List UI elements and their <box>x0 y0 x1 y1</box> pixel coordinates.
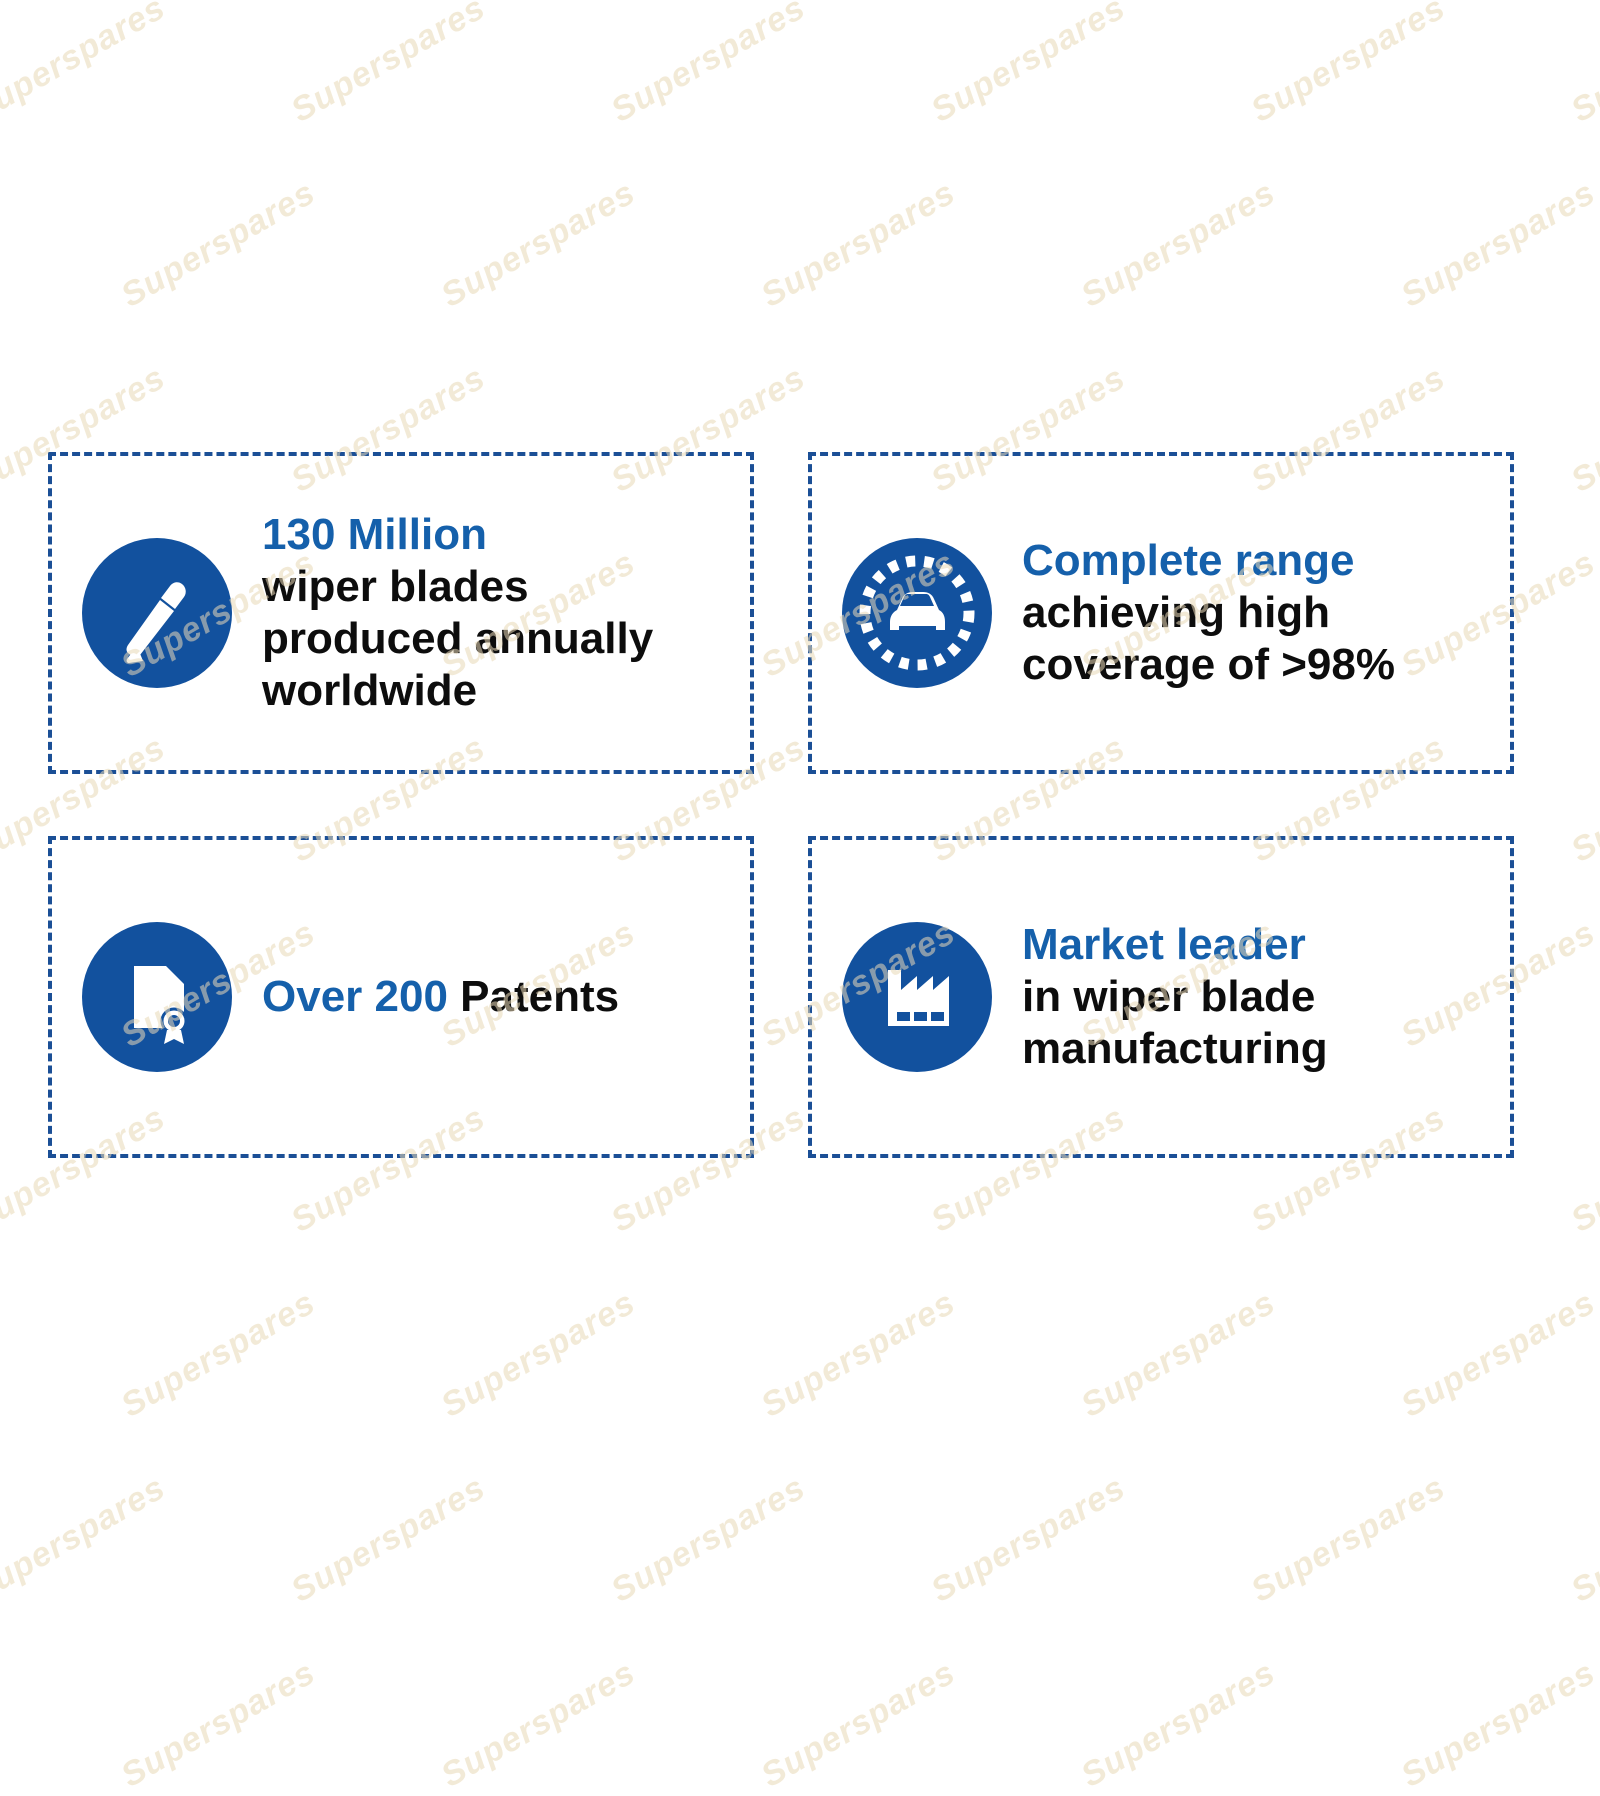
card-market-leader: Market leader in wiper blade manufacturi… <box>808 836 1514 1158</box>
card-patents: Over 200 Patents <box>48 836 754 1158</box>
watermark-text: Superspares <box>1075 1283 1282 1425</box>
icon-container <box>812 538 1022 688</box>
watermark-text: Superspares <box>1395 1283 1600 1425</box>
watermark-text: Superspares <box>285 0 492 131</box>
watermark-text: Superspares <box>115 173 322 315</box>
watermark-text: Superspares <box>1565 728 1600 870</box>
watermark-text: Superspares <box>115 1653 322 1795</box>
wiper-blade-icon <box>82 538 232 688</box>
certificate-document-icon <box>82 922 232 1072</box>
watermark-text: Superspares <box>435 1283 642 1425</box>
watermark-text: Superspares <box>1565 1468 1600 1610</box>
watermark-text: Superspares <box>605 0 812 131</box>
watermark-text: Superspares <box>0 1653 2 1795</box>
card-line-2: manufacturing <box>1022 1023 1488 1075</box>
card-text: Market leader in wiper blade manufacturi… <box>1022 919 1510 1075</box>
watermark-text: Superspares <box>0 1283 2 1425</box>
watermark-text: Superspares <box>1245 0 1452 131</box>
watermark-text: Superspares <box>1075 1653 1282 1795</box>
watermark-text: Superspares <box>115 1283 322 1425</box>
card-line-2: produced annually <box>262 613 728 665</box>
icon-container <box>812 922 1022 1072</box>
card-line-1: achieving high <box>1022 587 1488 639</box>
watermark-text: Superspares <box>755 1653 962 1795</box>
card-line-3: worldwide <box>262 665 728 717</box>
card-headline: Complete range <box>1022 535 1488 587</box>
watermark-text: Superspares <box>1565 1098 1600 1240</box>
watermark-text: Superspares <box>755 173 962 315</box>
card-headline: 130 Million <box>262 509 728 561</box>
watermark-text: Superspares <box>0 1468 172 1610</box>
card-complete-range: Complete range achieving high coverage o… <box>808 452 1514 774</box>
card-row-bottom: Over 200 Patents <box>48 836 1514 1158</box>
icon-container <box>52 538 262 688</box>
icon-container <box>52 922 262 1072</box>
card-wiper-blades-produced: 130 Million wiper blades produced annual… <box>48 452 754 774</box>
card-row-top: 130 Million wiper blades produced annual… <box>48 452 1514 774</box>
watermark-text: Superspares <box>435 173 642 315</box>
car-in-dotted-circle-icon <box>842 538 992 688</box>
watermark-text: Superspares <box>0 173 2 315</box>
watermark-text: Superspares <box>925 1468 1132 1610</box>
card-text: Over 200 Patents <box>262 971 750 1023</box>
watermark-text: Superspares <box>605 1468 812 1610</box>
watermark-text: Superspares <box>1395 1653 1600 1795</box>
card-headline: Over 200 <box>262 972 448 1021</box>
watermark-text: Superspares <box>285 1468 492 1610</box>
card-text: 130 Million wiper blades produced annual… <box>262 509 750 717</box>
watermark-text: Superspares <box>925 0 1132 131</box>
card-headline: Market leader <box>1022 919 1488 971</box>
watermark-text: Superspares <box>0 0 172 131</box>
watermark-text: Superspares <box>0 913 2 1055</box>
watermark-text: Superspares <box>435 1653 642 1795</box>
watermark-text: Superspares <box>1565 0 1600 131</box>
card-line-1: in wiper blade <box>1022 971 1488 1023</box>
card-text: Complete range achieving high coverage o… <box>1022 535 1510 691</box>
watermark-text: Superspares <box>755 1283 962 1425</box>
watermark-text: Superspares <box>1245 1468 1452 1610</box>
feature-card-grid: 130 Million wiper blades produced annual… <box>48 452 1514 1158</box>
card-line-2: coverage of >98% <box>1022 639 1488 691</box>
watermark-text: Superspares <box>1075 173 1282 315</box>
card-line-1: wiper blades <box>262 561 728 613</box>
card-line-1: Patents <box>448 972 619 1021</box>
watermark-text: Superspares <box>1395 173 1600 315</box>
factory-icon <box>842 922 992 1072</box>
watermark-text: Superspares <box>0 543 2 685</box>
watermark-text: Superspares <box>1565 358 1600 500</box>
